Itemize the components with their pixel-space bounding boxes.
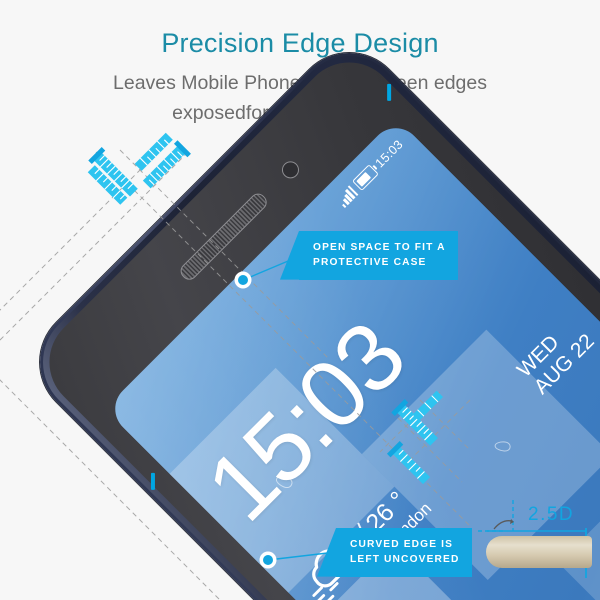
callout-curved-edge[interactable]: CURVED EDGE IS LEFT UNCOVERED [336,528,472,577]
callout-line-1: OPEN SPACE TO FIT A [313,240,446,255]
edge-marker-left [151,473,155,490]
edge-marker-right [387,84,391,101]
product-feature-graphic: Precision Edge Design Leaves Mobile Phon… [0,0,600,600]
callout-line-1: CURVED EDGE IS [350,537,460,552]
battery-icon [352,164,379,191]
status-bar: 15:03 [335,137,406,208]
callout-open-space[interactable]: OPEN SPACE TO FIT A PROTECTIVE CASE [299,231,458,280]
detail-label: 2.5D [528,504,574,526]
ruler-marks-top [88,133,191,205]
callout-line-2: PROTECTIVE CASE [313,255,446,270]
page-title: Precision Edge Design [0,28,600,59]
front-camera-icon [278,158,302,182]
callout-line-2: LEFT UNCOVERED [350,552,460,567]
glass-edge-profile [486,536,592,568]
status-bar-time: 15:03 [373,137,406,170]
edge-detail-diagram: 2.5D [486,500,600,586]
